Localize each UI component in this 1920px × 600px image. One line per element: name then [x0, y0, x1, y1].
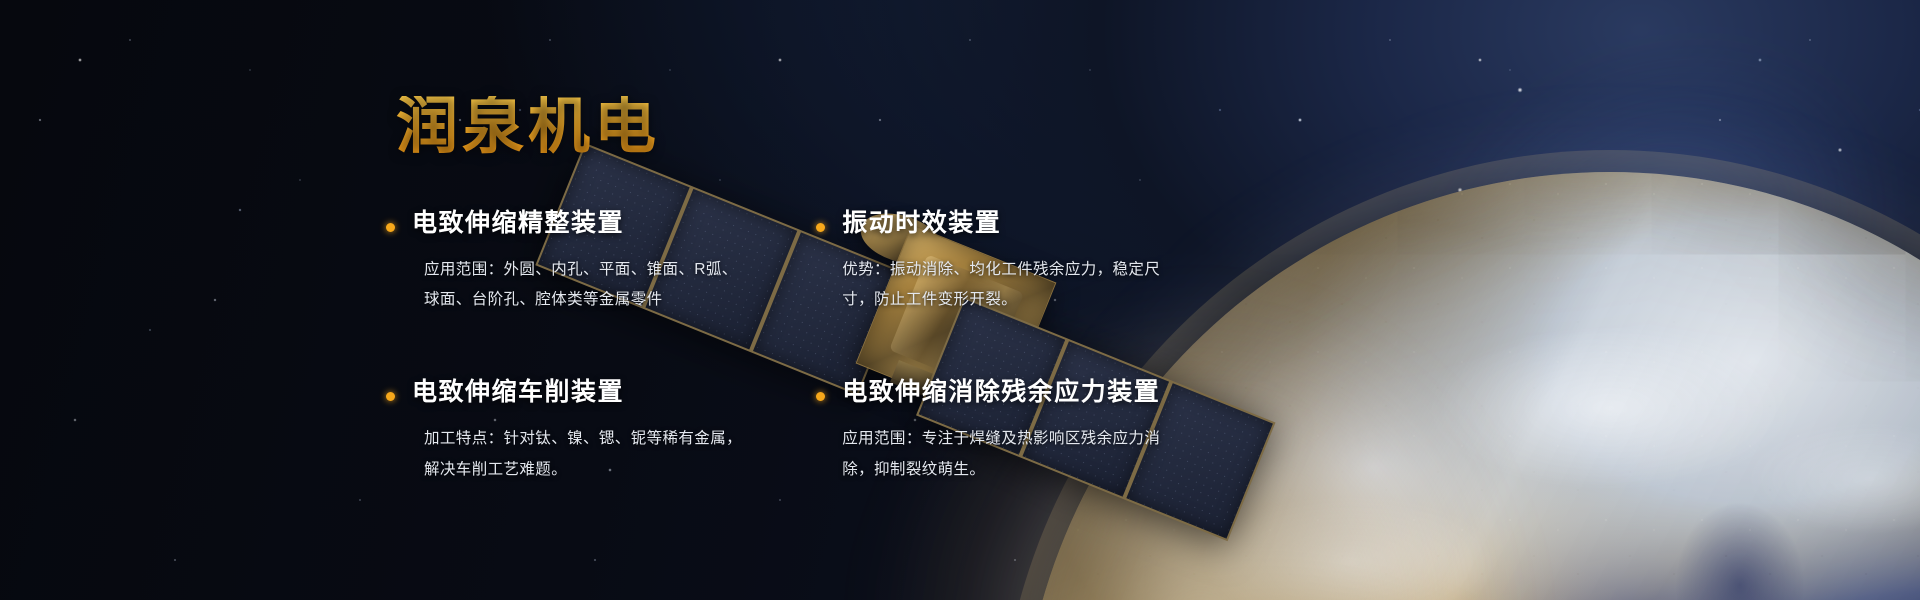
- feature-row: 电致伸缩车削装置 加工特点：针对钛、镍、锶、铌等稀有金属，解决车削工艺难题。 电…: [386, 377, 1266, 484]
- feature-description: 加工特点：针对钛、镍、锶、铌等稀有金属，解决车削工艺难题。: [412, 424, 752, 484]
- feature-description: 应用范围：专注于焊缝及热影响区残余应力消除，抑制裂纹萌生。: [842, 424, 1172, 484]
- feature-title: 振动时效装置: [842, 208, 1266, 238]
- feature-title: 电致伸缩车削装置: [412, 377, 816, 407]
- feature-description: 应用范围：外圆、内孔、平面、锥面、R弧、球面、台阶孔、腔体类等金属零件: [412, 255, 752, 315]
- bullet-dot-icon: [816, 392, 825, 401]
- feature-grid: 电致伸缩精整装置 应用范围：外圆、内孔、平面、锥面、R弧、球面、台阶孔、腔体类等…: [386, 208, 1266, 485]
- banner-content: 润泉机电 电致伸缩精整装置 应用范围：外圆、内孔、平面、锥面、R弧、球面、台阶孔…: [0, 0, 1920, 600]
- bullet-dot-icon: [386, 223, 395, 232]
- feature-title: 电致伸缩精整装置: [412, 208, 816, 238]
- feature-item-electrostrictive-turning[interactable]: 电致伸缩车削装置 加工特点：针对钛、镍、锶、铌等稀有金属，解决车削工艺难题。: [386, 377, 816, 484]
- bullet-dot-icon: [386, 392, 395, 401]
- feature-item-residual-stress-relief[interactable]: 电致伸缩消除残余应力装置 应用范围：专注于焊缝及热影响区残余应力消除，抑制裂纹萌…: [816, 377, 1266, 484]
- feature-description: 优势：振动消除、均化工件残余应力，稳定尺寸，防止工件变形开裂。: [842, 255, 1172, 315]
- feature-title: 电致伸缩消除残余应力装置: [842, 377, 1266, 407]
- feature-row: 电致伸缩精整装置 应用范围：外圆、内孔、平面、锥面、R弧、球面、台阶孔、腔体类等…: [386, 208, 1266, 315]
- hero-banner: 润泉机电 电致伸缩精整装置 应用范围：外圆、内孔、平面、锥面、R弧、球面、台阶孔…: [0, 0, 1920, 600]
- feature-item-electrostrictive-finishing[interactable]: 电致伸缩精整装置 应用范围：外圆、内孔、平面、锥面、R弧、球面、台阶孔、腔体类等…: [386, 208, 816, 315]
- brand-title: 润泉机电: [396, 96, 660, 158]
- bullet-dot-icon: [816, 223, 825, 232]
- feature-item-vibration-aging[interactable]: 振动时效装置 优势：振动消除、均化工件残余应力，稳定尺寸，防止工件变形开裂。: [816, 208, 1266, 315]
